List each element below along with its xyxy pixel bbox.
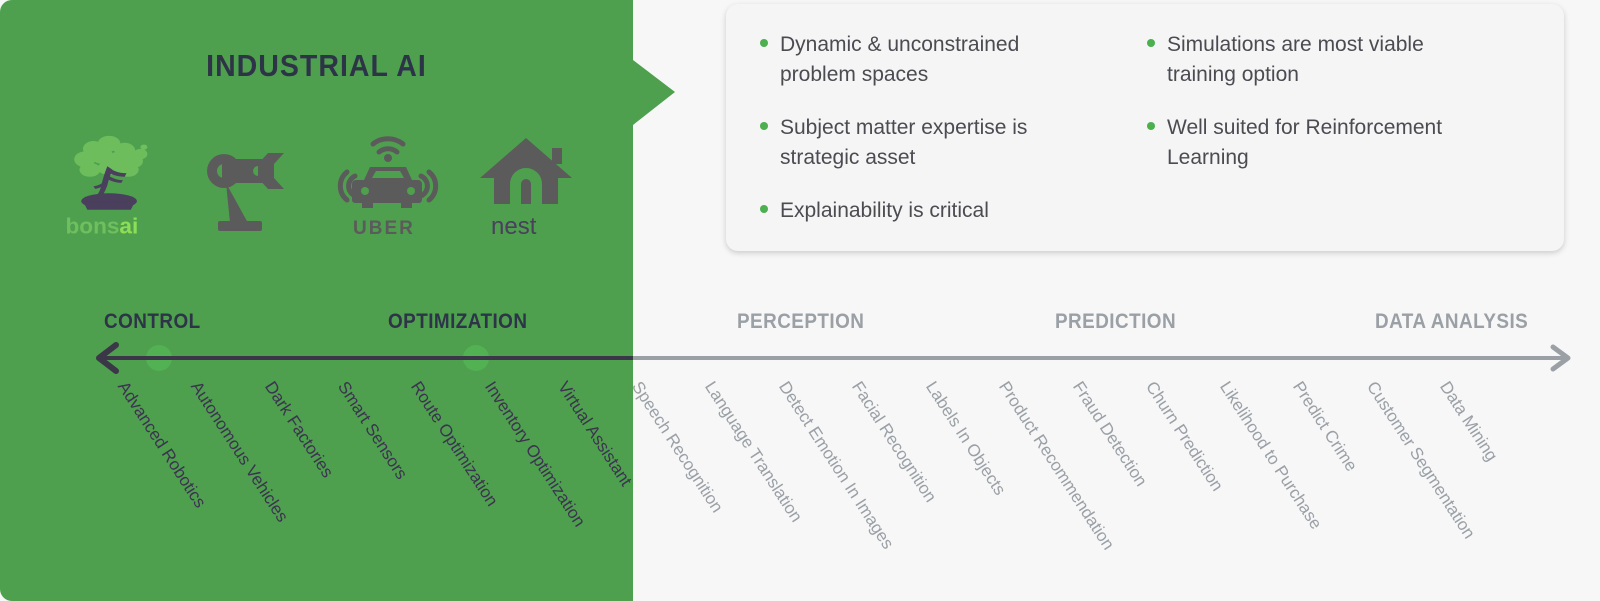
insights-column-left: Dynamic & unconstrained problem spaces S… [760, 30, 1147, 251]
tick-label: Churn Prediction [1141, 378, 1227, 495]
bonsai-icon [57, 128, 162, 219]
svg-text:ai: ai [120, 215, 139, 238]
insights-card: Dynamic & unconstrained problem spaces S… [726, 4, 1564, 251]
logo-robot-arm [196, 128, 301, 238]
logo-row: bons ai [0, 128, 633, 238]
bonsai-wordmark: bons ai [59, 215, 159, 238]
bullet-dot-icon [1147, 122, 1155, 130]
svg-text:bons: bons [66, 215, 120, 238]
uber-wordmark: UBER [353, 216, 423, 238]
tick-label: Fraud Detection [1068, 378, 1151, 490]
bullet-label: Well suited for Reinforcement Learning [1167, 113, 1467, 174]
insights-column-right: Simulations are most viable training opt… [1147, 30, 1534, 251]
uber-car-icon [334, 134, 442, 216]
tick-label: Labels In Objects [921, 378, 1009, 499]
bullet-dot-icon [760, 205, 768, 213]
logo-nest: nest [476, 128, 576, 238]
bullet-label: Explainability is critical [780, 196, 989, 226]
list-item: Explainability is critical [760, 196, 1137, 226]
svg-text:nest: nest [491, 214, 537, 238]
nest-house-icon [476, 136, 576, 216]
list-item: Subject matter expertise is strategic as… [760, 113, 1137, 174]
list-item: Simulations are most viable training opt… [1147, 30, 1524, 91]
robot-arm-icon [196, 133, 301, 238]
logo-bonsai: bons ai [57, 128, 162, 238]
bullet-dot-icon [760, 39, 768, 47]
logo-uber: UBER [334, 128, 442, 238]
list-item: Well suited for Reinforcement Learning [1147, 113, 1524, 174]
bullet-dot-icon [760, 122, 768, 130]
diagram-canvas: INDUSTRIAL AI [0, 0, 1600, 601]
tick-label: Predict Crime [1288, 378, 1361, 475]
bullet-label: Dynamic & unconstrained problem spaces [780, 30, 1080, 91]
spectrum-axis [0, 330, 1600, 380]
bullet-label: Subject matter expertise is strategic as… [780, 113, 1080, 174]
nest-wordmark: nest [491, 214, 561, 238]
bullet-dot-icon [1147, 39, 1155, 47]
bullet-label: Simulations are most viable training opt… [1167, 30, 1467, 91]
list-item: Dynamic & unconstrained problem spaces [760, 30, 1137, 91]
svg-text:UBER: UBER [353, 218, 415, 238]
tick-label: Data Mining [1435, 378, 1501, 465]
page-title: INDUSTRIAL AI [25, 48, 607, 84]
